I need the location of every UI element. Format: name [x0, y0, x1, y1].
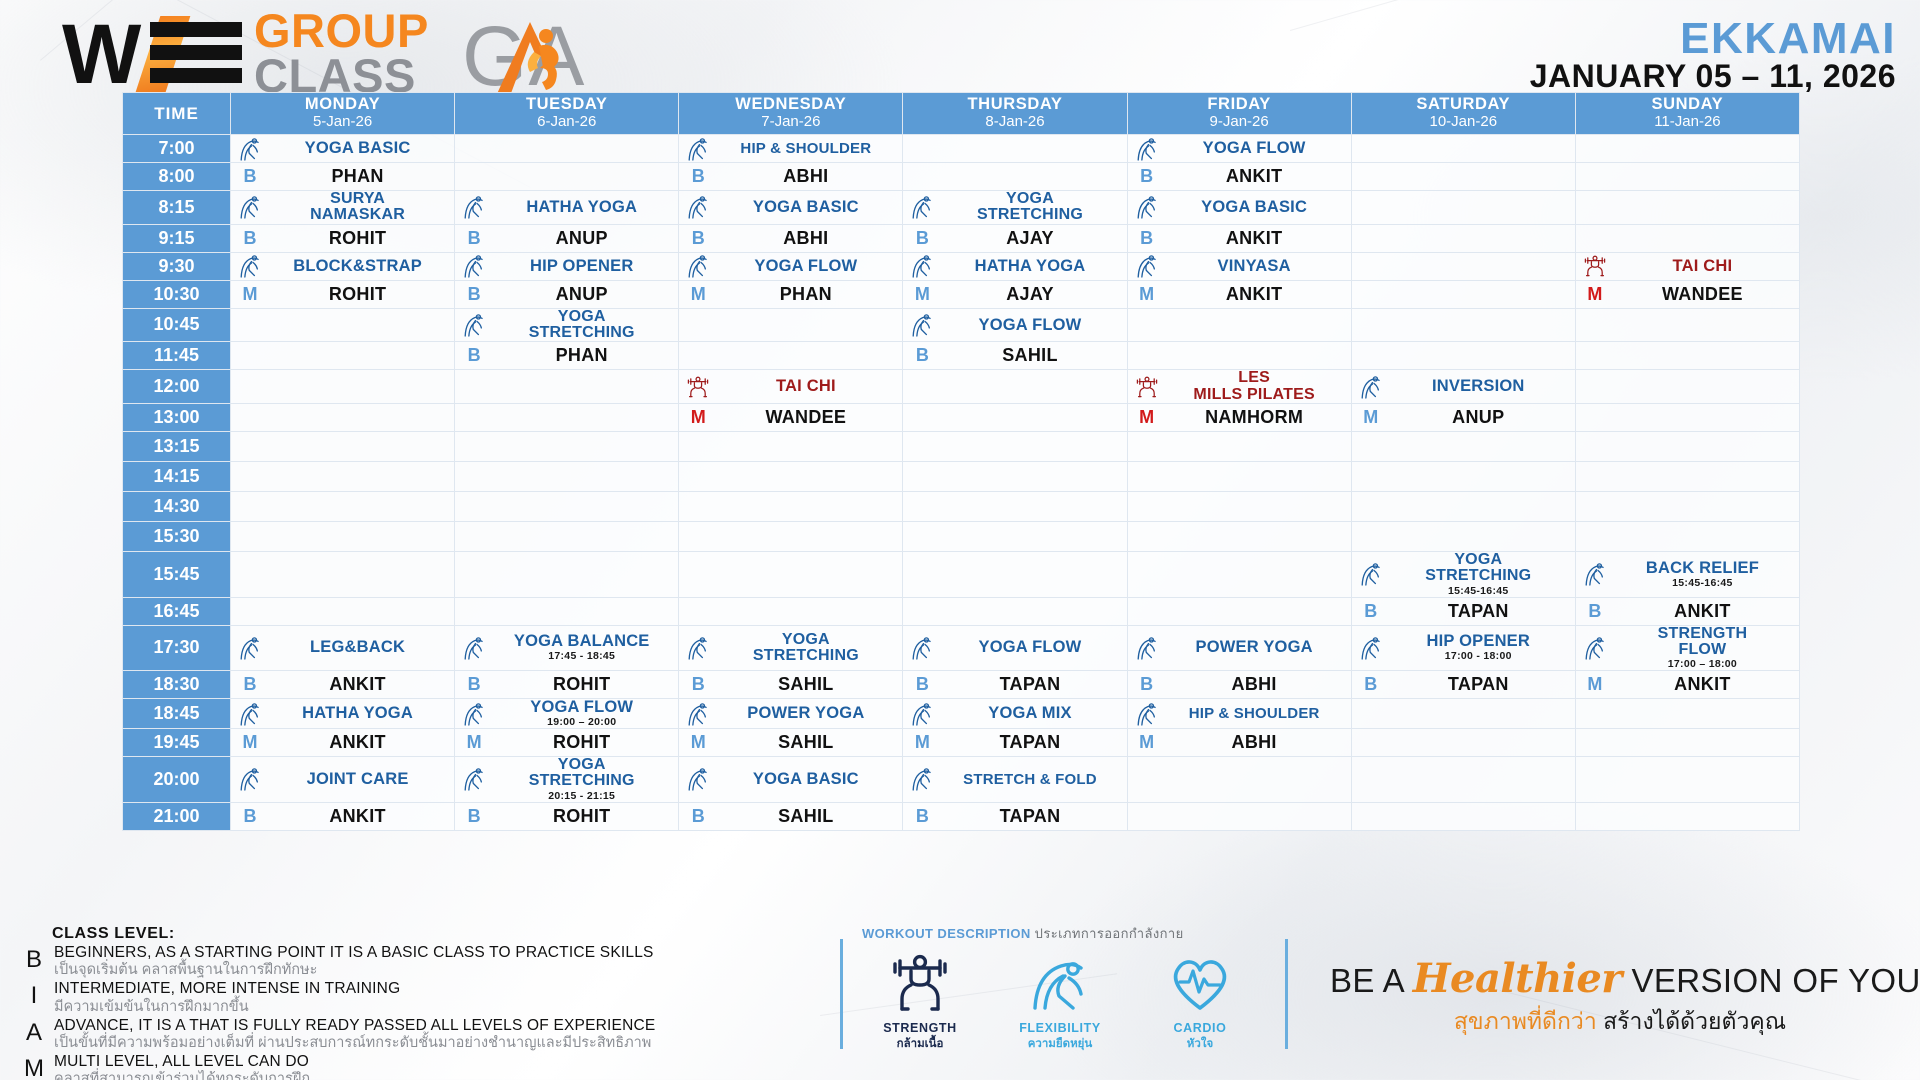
empty-slot [1351, 461, 1575, 491]
workout-description-title: WORKOUT DESCRIPTION ประเภทการออกกำลังกาย [862, 923, 1262, 944]
class-type-icon [683, 701, 713, 727]
class-name-text: YOGA FLOW [937, 317, 1122, 334]
class-type-icon [1132, 136, 1162, 162]
class-name-cell[interactable]: POWER YOGA [679, 699, 903, 729]
class-name-cell[interactable]: BACK RELIEF15:45-16:45 [1575, 551, 1799, 597]
class-subtime: 17:00 – 18:00 [1610, 658, 1795, 670]
class-name-cell[interactable]: YOGA BASIC [1127, 191, 1351, 225]
class-instructor: ROHIT [489, 732, 674, 753]
class-instructor: AJAY [937, 284, 1122, 305]
class-name-cell[interactable]: LEG&BACK [231, 625, 455, 671]
class-title: SURYANAMASKAR [265, 191, 450, 224]
day-name: THURSDAY [903, 96, 1126, 114]
class-name-cell[interactable]: TAI CHI [679, 370, 903, 404]
class-name-text: YOGA BALANCE17:45 - 18:45 [489, 633, 674, 662]
class-instructor: ROHIT [489, 674, 674, 695]
day-header-wednesday: WEDNESDAY 7-Jan-26 [679, 93, 903, 135]
class-instructor: PHAN [489, 345, 674, 366]
class-level-desc-th: คลาสที่สามารถเข้าร่วมได้ทกระดับการฝึก [54, 1071, 774, 1080]
class-name-text: LEG&BACK [265, 639, 450, 656]
class-title: HIP & SHOULDER [1162, 706, 1347, 721]
time-start: 7:00 [123, 135, 231, 163]
time-start: 18:45 [123, 699, 231, 729]
day-name: SUNDAY [1576, 96, 1799, 114]
empty-slot [1351, 756, 1575, 802]
empty-slot [1127, 551, 1351, 597]
class-title: LEG&BACK [265, 639, 450, 656]
class-detail-cell[interactable]: BPHAN [231, 163, 455, 191]
class-type-icon [683, 766, 713, 792]
brand-logo: W GROUP CLASS GA [62, 8, 429, 98]
class-name-text: LESMILLS PILATES [1162, 370, 1347, 403]
empty-slot [1575, 191, 1799, 225]
class-name-cell[interactable]: BLOCK&STRAP [231, 252, 455, 280]
flexibility-icon [911, 635, 933, 661]
venue-title: EKKAMAI [1680, 14, 1896, 64]
class-name-text: YOGASTRETCHING [937, 191, 1122, 224]
class-title: HIP & SHOULDER [713, 141, 898, 156]
day-header-monday: MONDAY 5-Jan-26 [231, 93, 455, 135]
class-name-text: HIP & SHOULDER [1162, 706, 1347, 721]
schedule-table: TIME MONDAY 5-Jan-26 TUESDAY 6-Jan-26 WE… [122, 92, 1800, 831]
flexibility-icon [911, 766, 933, 792]
class-title: BLOCK&STRAP [265, 258, 450, 275]
class-type-icon [459, 312, 489, 338]
class-name-cell[interactable]: HIP & SHOULDER [679, 135, 903, 163]
class-type-icon [459, 635, 489, 661]
class-name-cell[interactable]: YOGA FLOW [1127, 135, 1351, 163]
class-name-cell[interactable]: HATHA YOGA [231, 699, 455, 729]
empty-slot [679, 597, 903, 625]
empty-slot [1575, 370, 1799, 404]
class-name-text: HIP OPENER17:00 - 18:00 [1386, 633, 1571, 662]
class-detail-cell[interactable]: MABHI [1127, 728, 1351, 756]
class-level-badge: B [1132, 166, 1162, 187]
class-instructor: TAPAN [937, 806, 1122, 827]
class-name-cell[interactable]: YOGASTRETCHING20:15 - 21:15 [455, 756, 679, 802]
class-instructor: ANKIT [1162, 284, 1347, 305]
class-detail-cell[interactable]: BAJAY [903, 224, 1127, 252]
empty-slot [1575, 756, 1799, 802]
empty-slot [231, 431, 455, 461]
class-level-badge: B [235, 674, 265, 695]
empty-slot [1575, 461, 1799, 491]
class-detail-cell[interactable]: MWANDEE [1575, 280, 1799, 308]
class-detail-cell[interactable]: BANKIT [1127, 224, 1351, 252]
we-bar-icon [150, 22, 242, 37]
empty-slot [455, 521, 679, 551]
empty-slot [455, 491, 679, 521]
class-name-cell[interactable]: YOGA FLOW [679, 252, 903, 280]
class-instructor: ANKIT [1610, 674, 1795, 695]
empty-slot [455, 403, 679, 431]
class-name-cell[interactable]: HIP OPENER [455, 252, 679, 280]
class-detail-cell[interactable]: MROHIT [231, 280, 455, 308]
class-title: YOGA BASIC [713, 199, 898, 216]
empty-slot [1575, 342, 1799, 370]
class-name-cell[interactable]: YOGASTRETCHING [903, 191, 1127, 225]
class-level-badge: M [1132, 284, 1162, 305]
class-detail-cell[interactable]: MANKIT [1575, 671, 1799, 699]
class-subtime: 20:15 - 21:15 [489, 790, 674, 802]
class-name-cell[interactable]: LESMILLS PILATES [1127, 370, 1351, 404]
class-detail-cell[interactable]: MANUP [1351, 403, 1575, 431]
class-instructor: WANDEE [713, 407, 898, 428]
empty-slot [903, 461, 1127, 491]
time-end: 14:15 [123, 461, 231, 491]
class-level-badge: B [235, 228, 265, 249]
strength-icon [686, 375, 710, 399]
time-start: 8:15 [123, 191, 231, 225]
workout-type-label-th: กล้ามเนื้อ [872, 1035, 968, 1053]
class-type-icon [459, 701, 489, 727]
schedule-body: 7:00YOGA BASICHIP & SHOULDERYOGA FLOW8:0… [123, 135, 1800, 831]
class-detail-cell[interactable]: MROHIT [455, 728, 679, 756]
class-detail-cell[interactable]: MANKIT [1127, 280, 1351, 308]
flexibility-icon [1584, 561, 1606, 587]
class-detail-cell[interactable]: BROHIT [455, 671, 679, 699]
schedule-row-bottom: 11:45BPHANBSAHIL [123, 342, 1800, 370]
class-detail-cell[interactable]: BROHIT [455, 802, 679, 830]
class-title: TAI CHI [713, 378, 898, 395]
empty-slot [903, 163, 1127, 191]
class-level-badge: B [235, 166, 265, 187]
class-type-icon [1132, 194, 1162, 220]
day-date: 10-Jan-26 [1352, 114, 1575, 130]
class-level-badge: B [1356, 674, 1386, 695]
class-level-badge: B [235, 806, 265, 827]
class-instructor: ANKIT [1162, 166, 1347, 187]
day-date: 8-Jan-26 [903, 114, 1126, 130]
flexibility-icon [239, 136, 261, 162]
class-name-text: YOGA BASIC [1162, 199, 1347, 216]
class-type-icon [907, 635, 937, 661]
flexibility-icon [687, 194, 709, 220]
class-name-text: JOINT CARE [265, 771, 450, 788]
class-title: YOGA MIX [937, 705, 1122, 722]
empty-slot [1351, 802, 1575, 830]
class-detail-cell[interactable]: BTAPAN [1351, 597, 1575, 625]
class-type-icon [1132, 375, 1162, 399]
class-name-text: HATHA YOGA [489, 199, 674, 216]
class-level-legend: CLASS LEVEL: BBEGINNERS, AS A STARTING P… [14, 925, 774, 1080]
empty-slot [1351, 224, 1575, 252]
class-level-list: BBEGINNERS, AS A STARTING POINT IT IS A … [14, 944, 774, 1080]
time-start: 20:00 [123, 756, 231, 802]
class-name-text: STRETCH & FOLD [937, 772, 1122, 787]
class-detail-cell[interactable]: BANUP [455, 280, 679, 308]
flexibility-icon [463, 766, 485, 792]
class-detail-cell[interactable]: BSAHIL [903, 342, 1127, 370]
class-detail-cell[interactable]: BANKIT [231, 802, 455, 830]
class-name-cell[interactable]: HIP & SHOULDER [1127, 699, 1351, 729]
class-detail-cell[interactable]: BSAHIL [679, 802, 903, 830]
class-title: HIP OPENER [489, 258, 674, 275]
class-name-cell[interactable]: HATHA YOGA [455, 191, 679, 225]
empty-slot [903, 370, 1127, 404]
empty-slot [1575, 308, 1799, 342]
flexibility-icon [1029, 954, 1091, 1012]
empty-slot [679, 342, 903, 370]
class-name-cell[interactable]: HATHA YOGA [903, 252, 1127, 280]
empty-slot [231, 370, 455, 404]
we-logo-icon: W [62, 16, 242, 90]
class-detail-cell[interactable]: MTAPAN [903, 728, 1127, 756]
class-instructor: ANUP [489, 228, 674, 249]
tagline-th-rest: สร้างได้ด้วยตัวคุณ [1603, 1008, 1786, 1034]
class-detail-cell[interactable]: MPHAN [679, 280, 903, 308]
empty-slot [1575, 163, 1799, 191]
class-title: LESMILLS PILATES [1162, 370, 1347, 403]
workout-type-cardio: CARDIO หัวใจ [1152, 954, 1248, 1053]
class-detail-cell[interactable]: BABHI [679, 224, 903, 252]
schedule-row-top: 12:00TAI CHILESMILLS PILATESINVERSION [123, 370, 1800, 404]
schedule-row-bottom: 21:00BANKITBROHITBSAHILBTAPAN [123, 802, 1800, 830]
time-end: 16:45 [123, 597, 231, 625]
empty-slot [679, 551, 903, 597]
flexibility-icon [239, 766, 261, 792]
empty-slot [1127, 597, 1351, 625]
class-level-badge: M [907, 732, 937, 753]
class-level-badge: B [459, 228, 489, 249]
class-type-icon [235, 194, 265, 220]
empty-slot [1127, 491, 1351, 521]
class-title: YOGA BASIC [713, 771, 898, 788]
tagline-th: สุขภาพที่ดีกว่า สร้างได้ด้วยตัวคุณ [1330, 1004, 1910, 1040]
class-name-cell[interactable]: YOGA BASIC [679, 191, 903, 225]
time-end: 11:45 [123, 342, 231, 370]
class-level-desc-en: MULTI LEVEL, ALL LEVEL CAN DO [54, 1053, 774, 1071]
class-name-cell[interactable]: YOGASTRETCHING [679, 625, 903, 671]
class-title: YOGA BASIC [1162, 199, 1347, 216]
class-detail-cell[interactable]: BTAPAN [1351, 671, 1575, 699]
class-level-badge: M [235, 284, 265, 305]
class-instructor: ANKIT [1610, 601, 1795, 622]
class-name-text: YOGA MIX [937, 705, 1122, 722]
class-detail-cell[interactable]: BABHI [679, 163, 903, 191]
schedule-row-top: 7:00YOGA BASICHIP & SHOULDERYOGA FLOW [123, 135, 1800, 163]
class-name-cell[interactable]: STRENGTHFLOW17:00 – 18:00 [1575, 625, 1799, 671]
tagline-suffix: VERSION OF YOU [1631, 962, 1920, 999]
class-level-badge: B [459, 284, 489, 305]
class-title: YOGASTRETCHING [489, 757, 674, 790]
time-start: 10:45 [123, 308, 231, 342]
class-level-badge: M [1132, 407, 1162, 428]
class-name-cell[interactable]: POWER YOGA [1127, 625, 1351, 671]
class-instructor: AJAY [937, 228, 1122, 249]
class-detail-cell[interactable]: BABHI [1127, 671, 1351, 699]
workout-description-legend: WORKOUT DESCRIPTION ประเภทการออกกำลังกาย [862, 923, 1262, 1053]
yoga-pose-icon [490, 16, 582, 100]
empty-slot [231, 551, 455, 597]
workout-type-label-en: FLEXIBILITY [1012, 1021, 1108, 1035]
class-instructor: NAMHORM [1162, 407, 1347, 428]
empty-slot [1351, 728, 1575, 756]
empty-slot [455, 135, 679, 163]
class-title: YOGA FLOW [713, 258, 898, 275]
class-name-cell[interactable]: SURYANAMASKAR [231, 191, 455, 225]
tagline-divider [1285, 939, 1288, 1049]
class-type-icon [235, 635, 265, 661]
class-instructor: PHAN [265, 166, 450, 187]
class-name-text: BLOCK&STRAP [265, 258, 450, 275]
empty-slot [1575, 699, 1799, 729]
class-level-badge: M [1580, 674, 1610, 695]
class-name-cell[interactable]: YOGASTRETCHING [455, 308, 679, 342]
page-footer: CLASS LEVEL: BBEGINNERS, AS A STARTING P… [0, 935, 1920, 1080]
class-title: BACK RELIEF [1610, 560, 1795, 577]
empty-slot [903, 521, 1127, 551]
class-name-cell[interactable]: YOGA FLOW19:00 – 20:00 [455, 699, 679, 729]
class-name-cell[interactable]: VINYASA [1127, 252, 1351, 280]
day-date: 9-Jan-26 [1128, 114, 1351, 130]
flexibility-icon [687, 253, 709, 279]
class-name-text: BACK RELIEF15:45-16:45 [1610, 560, 1795, 589]
class-name-text: HATHA YOGA [937, 258, 1122, 275]
class-name-cell[interactable]: INVERSION [1351, 370, 1575, 404]
class-title: YOGA FLOW [489, 699, 674, 716]
class-level-desc-en: INTERMEDIATE, MORE INTENSE IN TRAINING [54, 980, 774, 998]
class-name-text: YOGA FLOW [1162, 140, 1347, 157]
empty-slot [679, 431, 903, 461]
class-name-cell[interactable]: JOINT CARE [231, 756, 455, 802]
class-level-key: M [14, 1053, 54, 1080]
empty-slot [1351, 308, 1575, 342]
flexibility-icon [687, 766, 709, 792]
class-detail-cell[interactable]: MNAMHORM [1127, 403, 1351, 431]
class-type-icon [1356, 374, 1386, 400]
class-name-text: STRENGTHFLOW17:00 – 18:00 [1610, 626, 1795, 671]
class-name-cell[interactable]: STRETCH & FOLD [903, 756, 1127, 802]
class-level-desc-en: ADVANCE, IT IS A THAT IS FULLY READY PAS… [54, 1017, 774, 1035]
class-name-cell[interactable]: YOGA MIX [903, 699, 1127, 729]
time-start: 9:30 [123, 252, 231, 280]
class-name-cell[interactable]: YOGA FLOW [903, 625, 1127, 671]
strength-icon [887, 954, 953, 1012]
class-detail-cell[interactable]: BANKIT [1575, 597, 1799, 625]
class-detail-cell[interactable]: BSAHIL [679, 671, 903, 699]
schedule-row-top: 18:45HATHA YOGAYOGA FLOW19:00 – 20:00POW… [123, 699, 1800, 729]
empty-slot [455, 551, 679, 597]
class-detail-cell[interactable]: BANKIT [231, 671, 455, 699]
class-detail-cell[interactable]: BROHIT [231, 224, 455, 252]
empty-slot [1127, 756, 1351, 802]
class-level-desc-en: BEGINNERS, AS A STARTING POINT IT IS A B… [54, 944, 774, 962]
class-title: INVERSION [1386, 378, 1571, 395]
class-level-badge: B [1356, 601, 1386, 622]
class-type-icon [1132, 701, 1162, 727]
class-name-cell[interactable]: YOGASTRETCHING15:45-16:45 [1351, 551, 1575, 597]
class-subtime: 17:00 - 18:00 [1386, 650, 1571, 662]
class-type-icon [1580, 635, 1610, 661]
flexibility-icon [463, 312, 485, 338]
class-detail-cell[interactable]: BANKIT [1127, 163, 1351, 191]
class-type-icon [1356, 635, 1386, 661]
class-detail-cell[interactable]: MSAHIL [679, 728, 903, 756]
day-name: FRIDAY [1128, 96, 1351, 114]
class-level-badge: B [1132, 228, 1162, 249]
empty-slot [231, 342, 455, 370]
empty-slot [1127, 308, 1351, 342]
time-start: 13:15 [123, 431, 231, 461]
flexibility-icon [911, 194, 933, 220]
class-level-badge: B [1132, 674, 1162, 695]
tagline-th-orange: สุขภาพที่ดีกว่า [1454, 1008, 1597, 1034]
empty-slot [455, 163, 679, 191]
class-name-text: YOGA FLOW19:00 – 20:00 [489, 699, 674, 728]
class-name-cell[interactable]: YOGA BALANCE17:45 - 18:45 [455, 625, 679, 671]
time-end: 9:15 [123, 224, 231, 252]
class-name-cell[interactable]: YOGA BASIC [679, 756, 903, 802]
class-title: STRENGTHFLOW [1610, 626, 1795, 659]
flexibility-icon [463, 635, 485, 661]
flexibility-icon [239, 253, 261, 279]
flexibility-icon [687, 136, 709, 162]
empty-slot [903, 431, 1127, 461]
class-level-badge: M [683, 407, 713, 428]
class-detail-cell[interactable]: MANKIT [231, 728, 455, 756]
class-name-text: INVERSION [1386, 378, 1571, 395]
class-name-cell[interactable]: HIP OPENER17:00 - 18:00 [1351, 625, 1575, 671]
schedule-row-top: 13:15 [123, 431, 1800, 461]
workout-type-flexibility: FLEXIBILITY ความยืดหยุ่น [1012, 954, 1108, 1053]
class-detail-cell[interactable]: BPHAN [455, 342, 679, 370]
class-name-cell[interactable]: TAI CHI [1575, 252, 1799, 280]
empty-slot [1351, 699, 1575, 729]
day-date: 7-Jan-26 [679, 114, 902, 130]
class-instructor: ABHI [713, 228, 898, 249]
class-title: TAI CHI [1610, 258, 1795, 275]
class-title: YOGASTRETCHING [489, 309, 674, 342]
class-detail-cell[interactable]: MAJAY [903, 280, 1127, 308]
empty-slot [679, 491, 903, 521]
schedule-row-top: 8:15SURYANAMASKARHATHA YOGAYOGA BASICYOG… [123, 191, 1800, 225]
class-instructor: ABHI [1162, 732, 1347, 753]
class-type-icon [459, 766, 489, 792]
class-detail-cell[interactable]: BTAPAN [903, 802, 1127, 830]
empty-slot [231, 491, 455, 521]
class-level-desc-th: เป็นขั้นที่มีความพร้อมอย่างเต็มที่ ผ่านป… [54, 1035, 774, 1052]
empty-slot [1127, 461, 1351, 491]
class-instructor: SAHIL [713, 732, 898, 753]
workout-type-icons: STRENGTH กล้ามเนื้อ FLEXIBILITY ความยืดห… [862, 954, 1262, 1053]
class-name-text: YOGA BASIC [713, 771, 898, 788]
class-name-text: HATHA YOGA [265, 705, 450, 722]
strength-icon [1583, 254, 1607, 278]
class-instructor: SAHIL [937, 345, 1122, 366]
flexibility-icon [687, 701, 709, 727]
empty-slot [1351, 431, 1575, 461]
tagline-script-word: Healthier [1413, 955, 1622, 1002]
class-name-cell[interactable]: YOGA FLOW [903, 308, 1127, 342]
empty-slot [903, 403, 1127, 431]
empty-slot [231, 308, 455, 342]
flexibility-icon [1136, 701, 1158, 727]
tagline-en: BE A Healthier VERSION OF YOU [1330, 955, 1910, 1002]
class-level-badge: B [907, 228, 937, 249]
we-w-letter: W [62, 18, 135, 92]
schedule-row-top: 10:45YOGASTRETCHINGYOGA FLOW [123, 308, 1800, 342]
schedule-row-bottom: 9:15BROHITBANUPBABHIBAJAYBANKIT [123, 224, 1800, 252]
tagline-block: BE A Healthier VERSION OF YOU สุขภาพที่ด… [1330, 955, 1910, 1040]
flexibility-icon [1136, 136, 1158, 162]
class-detail-cell[interactable]: BANUP [455, 224, 679, 252]
schedule-row-bottom: 18:30BANKITBROHITBSAHILBTAPANBABHIBTAPAN… [123, 671, 1800, 699]
we-bar-icon [150, 68, 242, 83]
class-detail-cell[interactable]: BTAPAN [903, 671, 1127, 699]
class-name-cell[interactable]: YOGA BASIC [231, 135, 455, 163]
class-detail-cell[interactable]: MWANDEE [679, 403, 903, 431]
